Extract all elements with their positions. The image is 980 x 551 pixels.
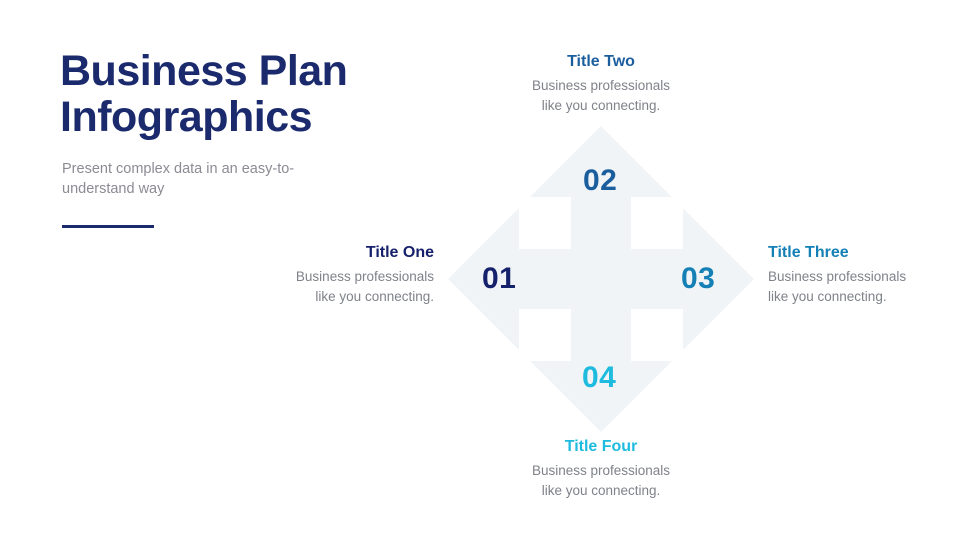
caption-block-two: Title Two Business professionals like yo… bbox=[501, 52, 701, 115]
step-number-03: 03 bbox=[681, 264, 715, 294]
caption-body-three: Business professionals like you connecti… bbox=[768, 267, 968, 306]
step-number-02: 02 bbox=[583, 166, 617, 196]
caption-body-four: Business professionals like you connecti… bbox=[501, 461, 701, 500]
caption-title-four: Title Four bbox=[501, 437, 701, 456]
caption-block-three: Title Three Business professionals like … bbox=[768, 243, 968, 306]
slide-canvas: Business Plan Infographics Present compl… bbox=[0, 0, 980, 551]
step-number-04: 04 bbox=[582, 363, 616, 393]
caption-body-two: Business professionals like you connecti… bbox=[501, 76, 701, 115]
heading-block: Business Plan Infographics Present compl… bbox=[60, 48, 380, 228]
caption-block-four: Title Four Business professionals like y… bbox=[501, 437, 701, 500]
step-number-01: 01 bbox=[482, 264, 516, 294]
caption-title-three: Title Three bbox=[768, 243, 968, 262]
arrow-center-hub bbox=[571, 249, 631, 309]
page-subtitle: Present complex data in an easy-to-under… bbox=[62, 159, 310, 199]
caption-title-two: Title Two bbox=[501, 52, 701, 71]
caption-title-one: Title One bbox=[240, 243, 434, 262]
accent-rule-divider bbox=[62, 225, 154, 228]
caption-block-one: Title One Business professionals like yo… bbox=[240, 243, 434, 306]
caption-body-one: Business professionals like you connecti… bbox=[240, 267, 434, 306]
page-title: Business Plan Infographics bbox=[60, 48, 380, 141]
